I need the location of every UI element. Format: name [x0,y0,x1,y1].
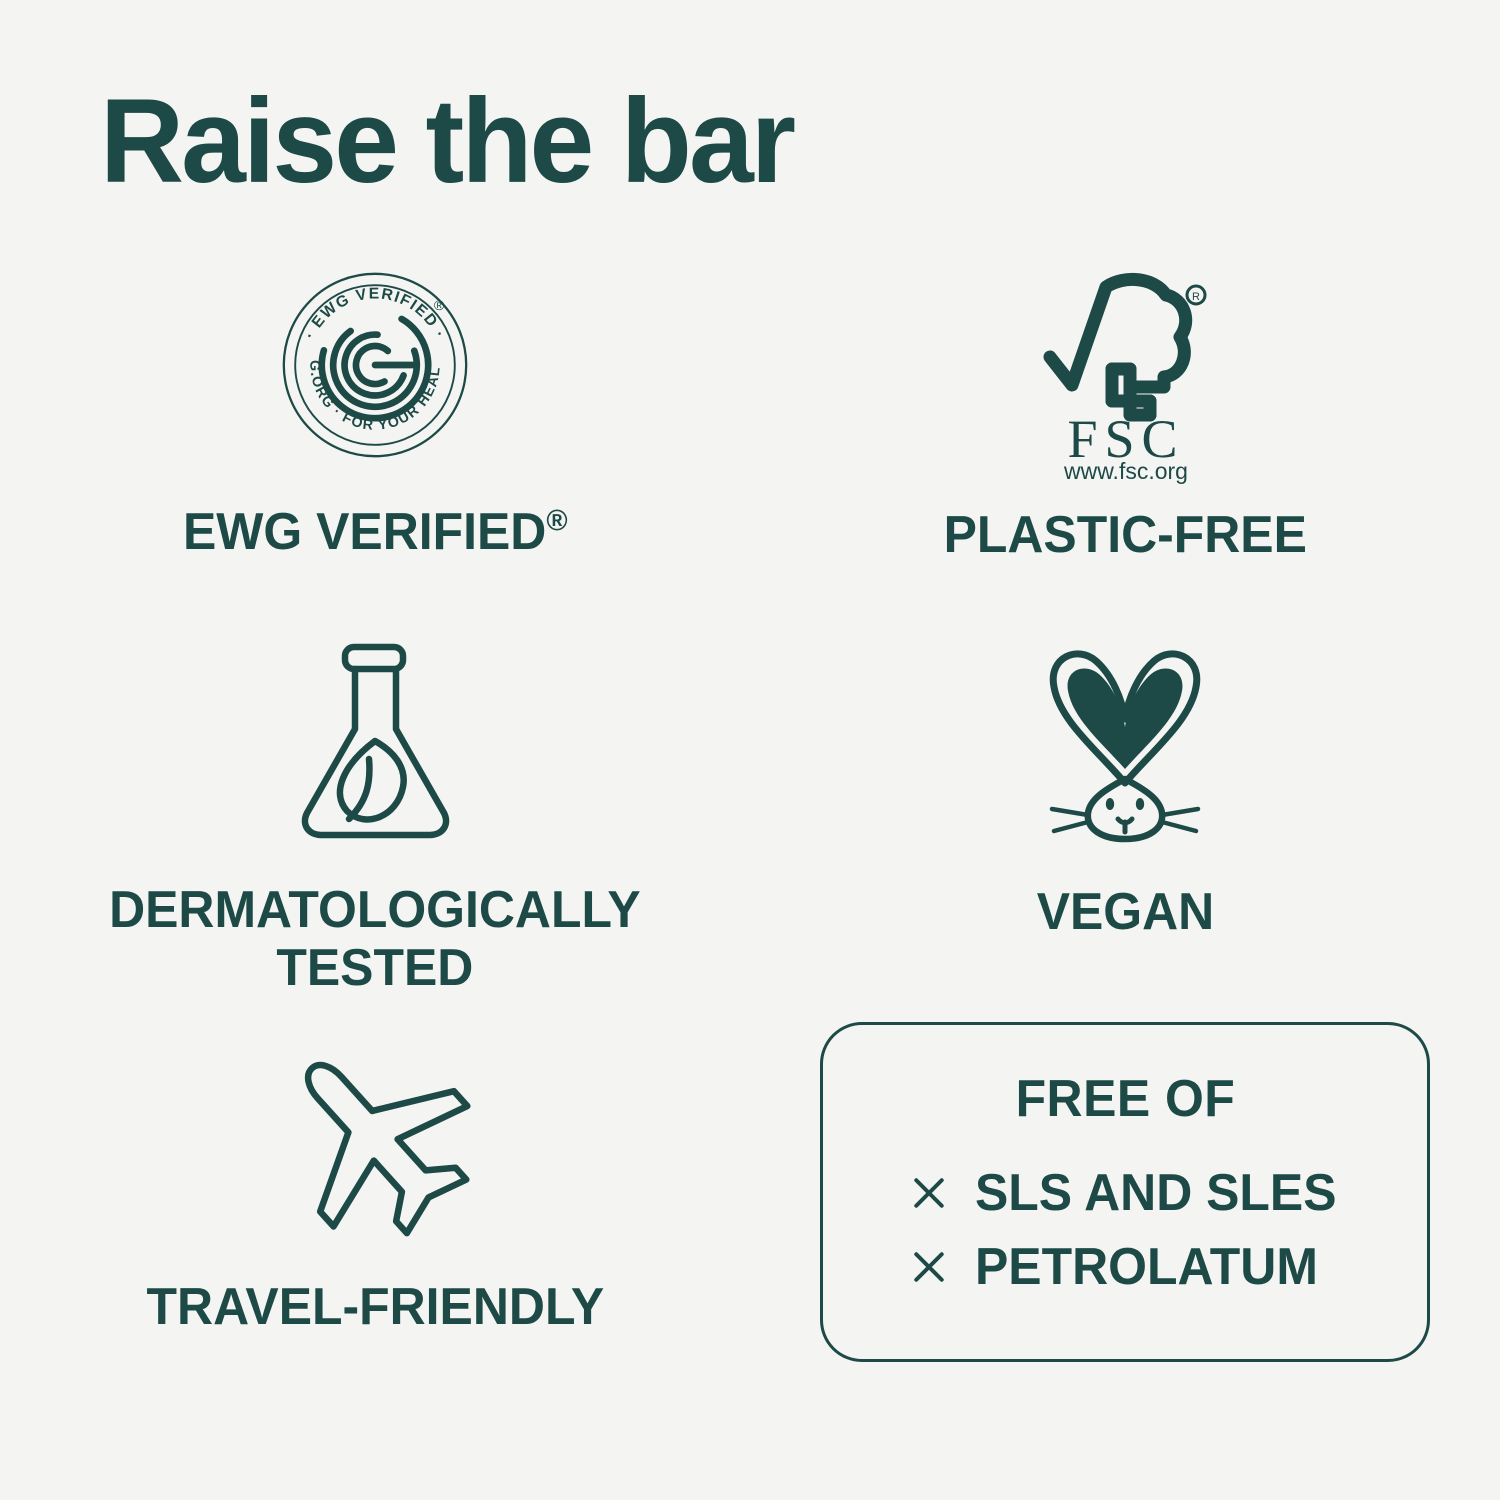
svg-text:R: R [1192,291,1200,303]
badge-dermatologically-tested: DERMATOLOGICALLY TESTED [0,610,750,1010]
fsc-url: www.fsc.org [1063,458,1188,484]
free-of-item-label: PETROLATUM [975,1237,1318,1297]
badge-label-vegan: VEGAN [1036,883,1214,941]
badge-plastic-free: R FSC www.fsc.org PLASTIC-FREE [750,265,1500,610]
free-of-item-label: SLS AND SLES [975,1163,1337,1223]
badge-label-travel-friendly: TRAVEL-FRIENDLY [146,1278,604,1336]
svg-text:®: ® [434,298,445,314]
badge-travel-friendly: TRAVEL-FRIENDLY [0,1010,750,1370]
free-of-box: FREE OF SLS AND SLES PETROLATUM [820,1022,1430,1362]
cross-icon [909,1173,949,1213]
badge-label-plastic-free: PLASTIC-FREE [943,506,1306,564]
free-of-list: SLS AND SLES PETROLATUM [909,1163,1352,1297]
badge-vegan: VEGAN [750,610,1500,1010]
badge-grid: · EWG VERIFIED · EWG.ORG · FOR YOUR HEAL… [0,265,1500,1370]
badge-label-ewg-verified: EWG VERIFIED® [183,503,568,561]
registered-mark: ® [546,505,567,538]
bunny-heart-ears-icon [1040,640,1210,845]
badge-label-dermatologically-tested: DERMATOLOGICALLY TESTED [109,881,641,997]
free-of-panel: FREE OF SLS AND SLES PETROLATUM [750,1010,1500,1370]
ewg-verified-seal-icon: · EWG VERIFIED · EWG.ORG · FOR YOUR HEAL… [280,265,470,465]
badge-ewg-verified: · EWG VERIFIED · EWG.ORG · FOR YOUR HEAL… [0,265,750,610]
airplane-icon [273,1035,478,1240]
free-of-item: SLS AND SLES [909,1163,1352,1223]
free-of-title: FREE OF [1015,1069,1235,1129]
free-of-item: PETROLATUM [909,1237,1352,1297]
page-title: Raise the bar [100,78,793,204]
badge-label-text: EWG VERIFIED [183,503,546,561]
cross-icon [909,1247,949,1287]
raise-the-bar-infographic: Raise the bar · EWG VERIFIED · EWG.ORG ·… [0,0,1500,1500]
fsc-tree-checkmark-icon: R FSC www.fsc.org [1038,269,1213,484]
flask-leaf-icon [293,638,458,843]
